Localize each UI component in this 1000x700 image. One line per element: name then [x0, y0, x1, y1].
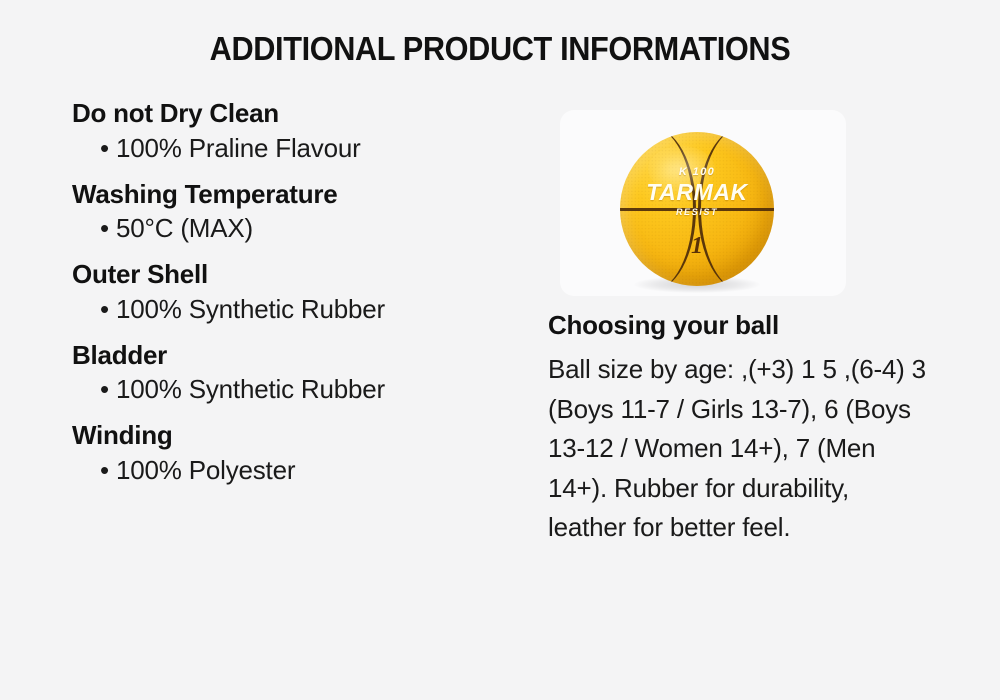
basketball-icon: K 100 TARMAK RESIST 1 [620, 132, 774, 286]
basketball-sphere: K 100 TARMAK RESIST 1 [620, 132, 774, 286]
spec-group: Winding • 100% Polyester [72, 420, 522, 488]
list-item: • 100% Synthetic Rubber [72, 293, 522, 327]
ball-brand-name: TARMAK [620, 181, 774, 204]
spec-group: Washing Temperature • 50°C (MAX) [72, 179, 522, 247]
spec-value: 100% Polyester [116, 455, 295, 485]
guide-heading: Choosing your ball [548, 310, 779, 341]
bullet-icon: • [100, 293, 109, 327]
spec-value: 50°C (MAX) [116, 213, 253, 243]
spec-group: Bladder • 100% Synthetic Rubber [72, 340, 522, 408]
spec-list: • 50°C (MAX) [72, 212, 522, 246]
spec-heading: Winding [72, 420, 522, 452]
specifications-column: Do not Dry Clean • 100% Praline Flavour … [72, 98, 522, 501]
spec-value: 100% Synthetic Rubber [116, 294, 385, 324]
page-title: ADDITIONAL PRODUCT INFORMATIONS [35, 30, 965, 68]
ball-size-number: 1 [620, 234, 774, 258]
spec-value: 100% Praline Flavour [116, 133, 361, 163]
spec-list: • 100% Synthetic Rubber [72, 293, 522, 327]
spec-list: • 100% Synthetic Rubber [72, 373, 522, 407]
list-item: • 100% Synthetic Rubber [72, 373, 522, 407]
content-columns: Do not Dry Clean • 100% Praline Flavour … [0, 98, 1000, 698]
list-item: • 100% Praline Flavour [72, 132, 522, 166]
spec-heading: Washing Temperature [72, 179, 522, 211]
product-info-sheet: ADDITIONAL PRODUCT INFORMATIONS Do not D… [0, 0, 1000, 700]
spec-heading: Bladder [72, 340, 522, 372]
bullet-icon: • [100, 454, 109, 488]
spec-heading: Do not Dry Clean [72, 98, 522, 130]
bullet-icon: • [100, 132, 109, 166]
spec-list: • 100% Praline Flavour [72, 132, 522, 166]
spec-group: Outer Shell • 100% Synthetic Rubber [72, 259, 522, 327]
list-item: • 50°C (MAX) [72, 212, 522, 246]
ball-branding: K 100 TARMAK RESIST [620, 167, 774, 217]
spec-list: • 100% Polyester [72, 454, 522, 488]
spec-heading: Outer Shell [72, 259, 522, 291]
spec-value: 100% Synthetic Rubber [116, 374, 385, 404]
bullet-icon: • [100, 373, 109, 407]
product-image: K 100 TARMAK RESIST 1 [548, 110, 848, 300]
ball-brand-model: K 100 [620, 167, 774, 178]
spec-group: Do not Dry Clean • 100% Praline Flavour [72, 98, 522, 166]
list-item: • 100% Polyester [72, 454, 522, 488]
guide-body-text: Ball size by age: ,(+3) 1 5 ,(6-4) 3 (Bo… [548, 350, 934, 548]
bullet-icon: • [100, 212, 109, 246]
ball-brand-tagline: RESIST [620, 208, 774, 217]
